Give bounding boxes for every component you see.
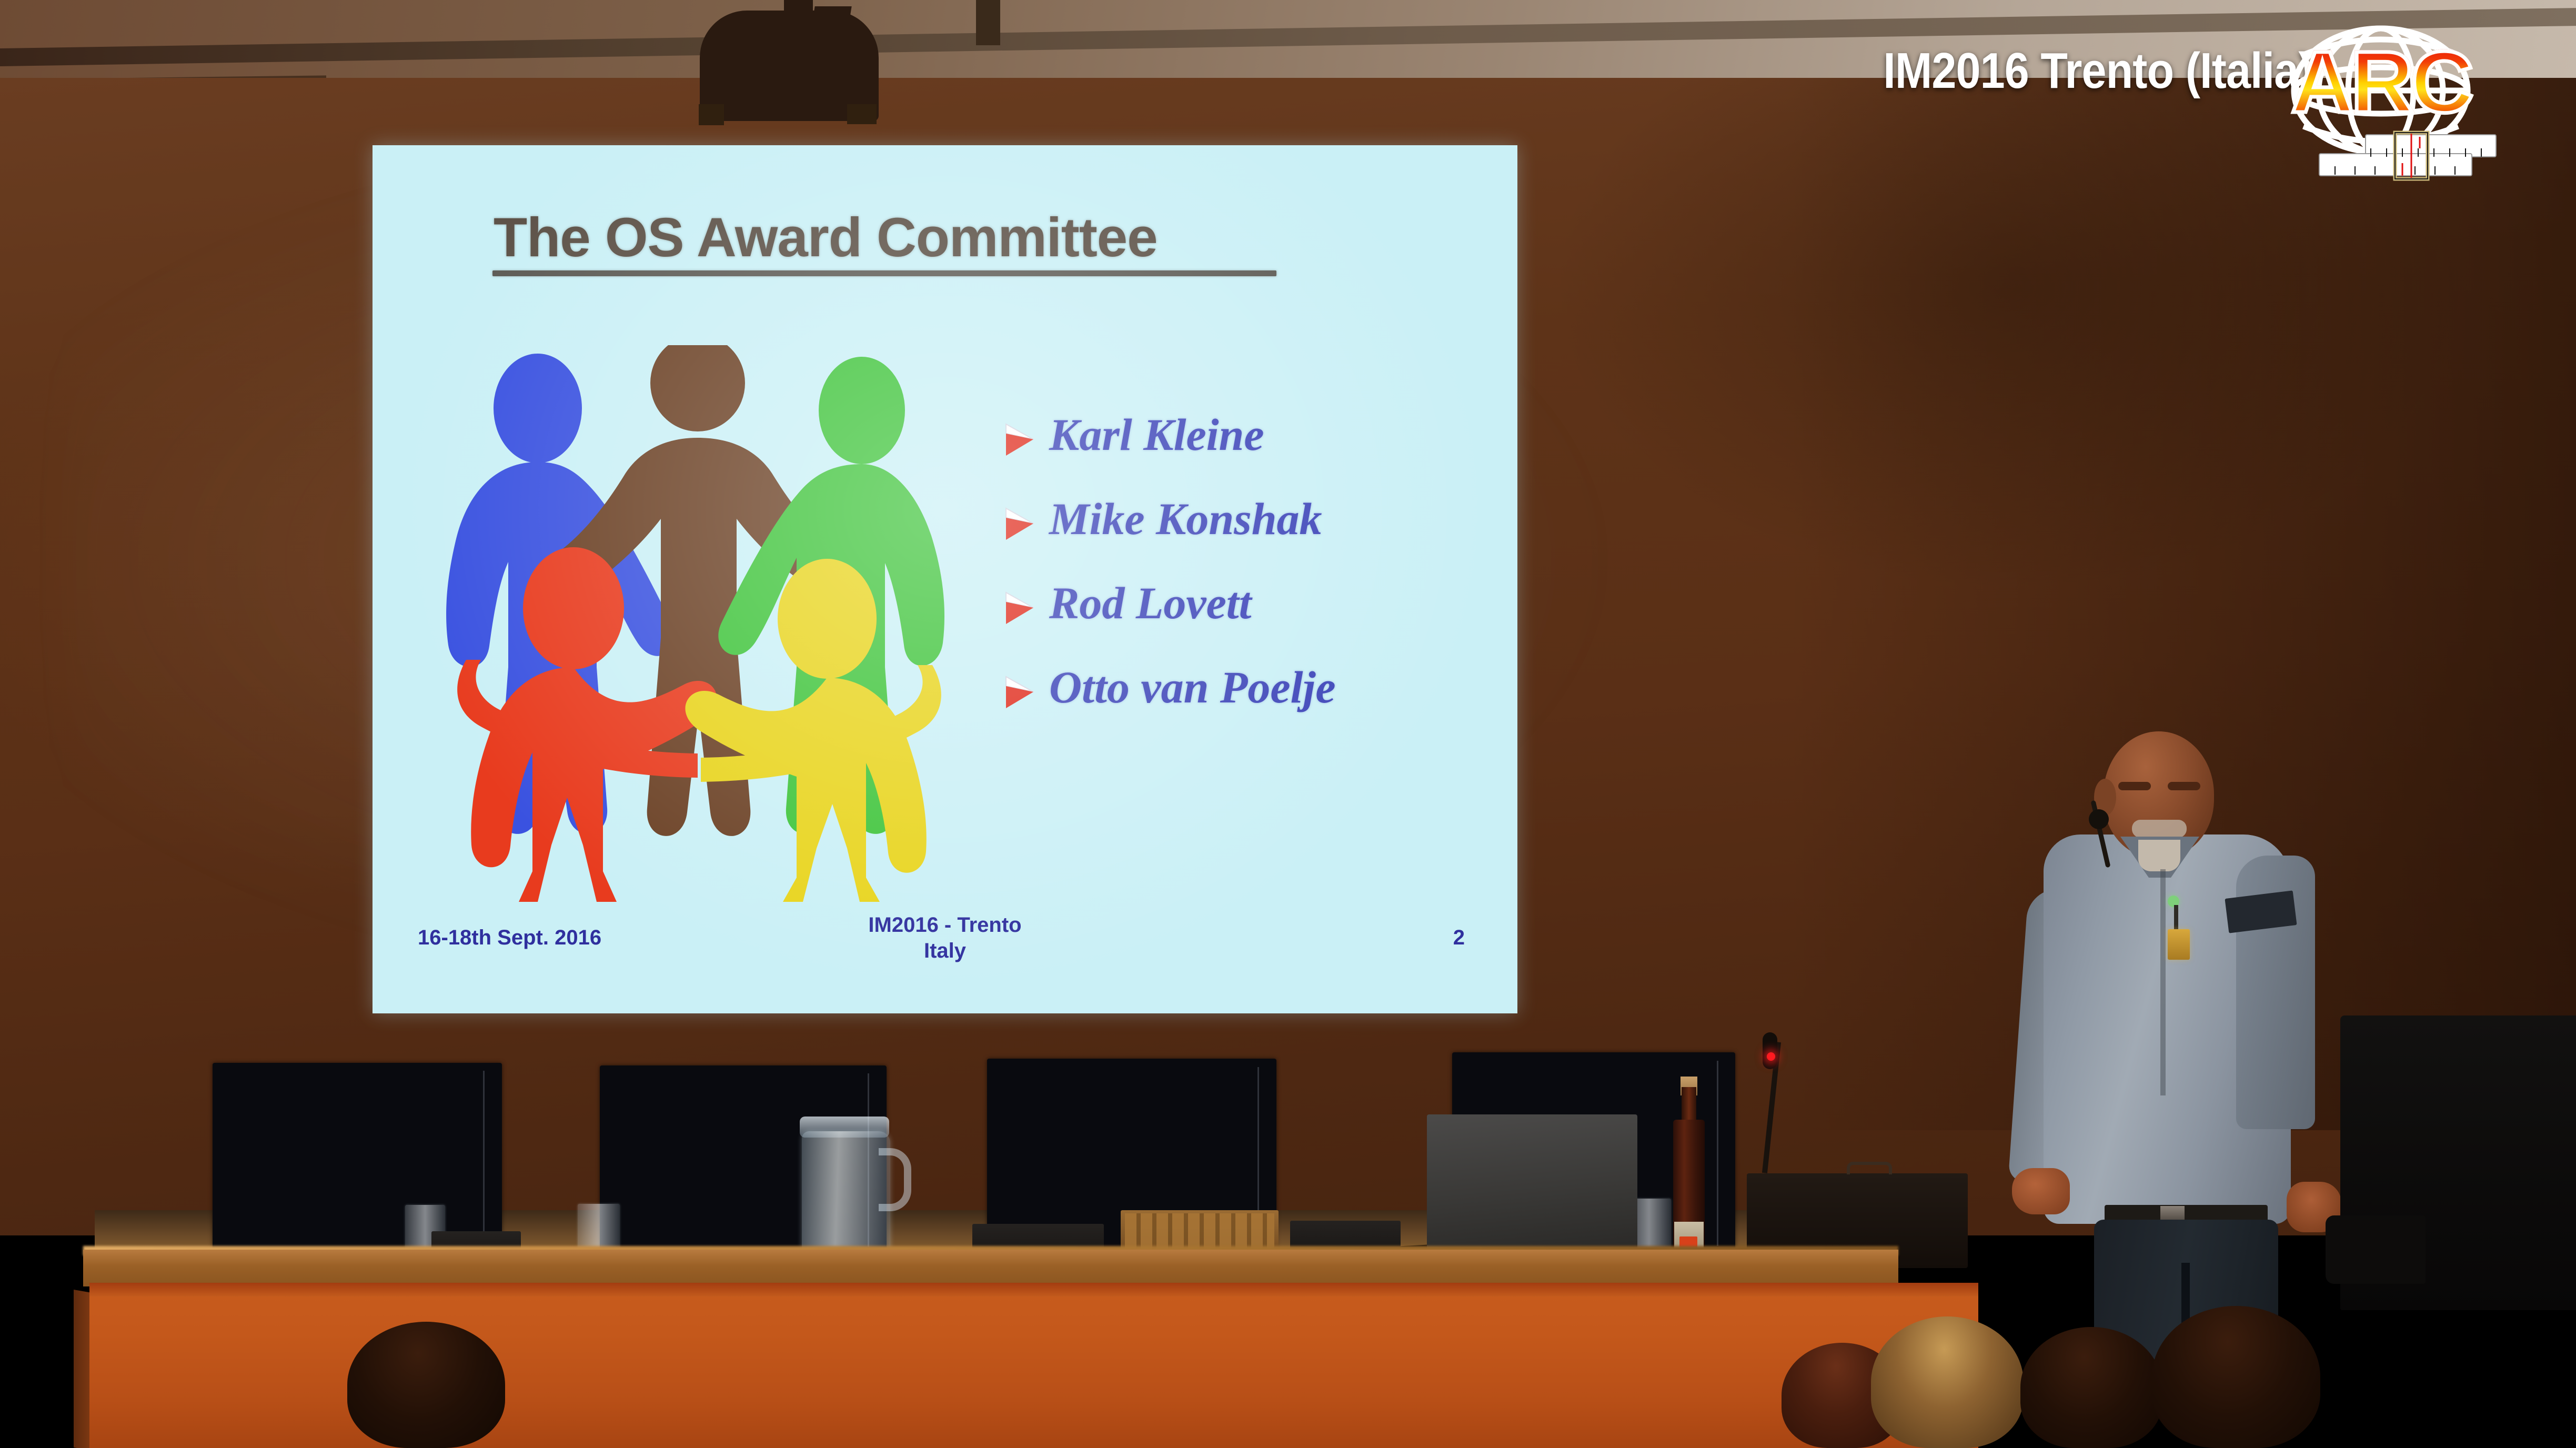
ceiling-pipe — [976, 0, 1000, 45]
presenter-shirt-placket — [2160, 869, 2166, 1095]
microphone-led-indicator — [1767, 1052, 1775, 1061]
slide-footer-event: IM2016 - Trento Italy — [373, 912, 1517, 964]
list-item: Karl Kleine — [1004, 408, 1498, 492]
list-item-label: Karl Kleine — [1049, 408, 1264, 461]
chair-armrest — [2326, 1215, 2426, 1284]
list-item: Mike Konshak — [1004, 492, 1498, 577]
presenter-brow-left — [2118, 782, 2151, 790]
list-item: Otto van Poelje — [1004, 661, 1498, 745]
desk-front-lip — [89, 1283, 1978, 1296]
laptop — [1427, 1114, 1637, 1251]
slide-page-number: 2 — [1453, 926, 1465, 950]
presenter — [2010, 731, 2378, 1415]
red-arrow-bullet-icon — [1004, 423, 1035, 458]
gooseneck-microphone — [1763, 1032, 1777, 1069]
list-item: Rod Lovett — [1004, 577, 1498, 661]
desk-top — [83, 1250, 1898, 1286]
presenter-badge-cord — [2174, 905, 2178, 932]
presenter-undershirt — [2138, 840, 2180, 871]
list-item-label: Mike Konshak — [1049, 492, 1322, 545]
slide-title: The OS Award Committee — [494, 206, 1158, 269]
audience-head — [1871, 1316, 2024, 1448]
committee-member-list: Karl Kleine Mike Konshak Rod Lovett — [1004, 408, 1498, 745]
lecture-room-photo: The OS Award Committee — [0, 0, 2576, 1448]
presenter-name-badge — [2168, 929, 2190, 960]
circle-of-people-graphic — [435, 345, 961, 903]
audience-head — [2020, 1327, 2162, 1448]
red-arrow-bullet-icon — [1004, 676, 1035, 710]
red-arrow-bullet-icon — [1004, 507, 1035, 542]
presenter-left-hand — [2012, 1168, 2070, 1214]
slide-title-underline — [492, 270, 1276, 276]
slide-footer-event-line2: Italy — [373, 938, 1517, 964]
presenter-mustache — [2132, 820, 2187, 838]
projector-foot-left — [699, 104, 724, 125]
projector-foot-right — [847, 104, 877, 124]
audience-head — [2152, 1306, 2320, 1448]
presenter-brow-right — [2168, 782, 2200, 790]
slide-footer: 16-18th Sept. 2016 IM2016 - Trento Italy… — [373, 907, 1517, 991]
list-item-label: Otto van Poelje — [1049, 661, 1336, 713]
slide-footer-event-line1: IM2016 - Trento — [373, 912, 1517, 938]
headset-microphone-icon — [2089, 809, 2109, 829]
audience-head — [347, 1322, 505, 1448]
red-arrow-bullet-icon — [1004, 591, 1035, 626]
projection-screen: The OS Award Committee — [373, 145, 1517, 1013]
briefcase-handle — [1847, 1162, 1892, 1174]
list-item-label: Rod Lovett — [1049, 577, 1252, 629]
water-pitcher-handle — [879, 1148, 911, 1211]
